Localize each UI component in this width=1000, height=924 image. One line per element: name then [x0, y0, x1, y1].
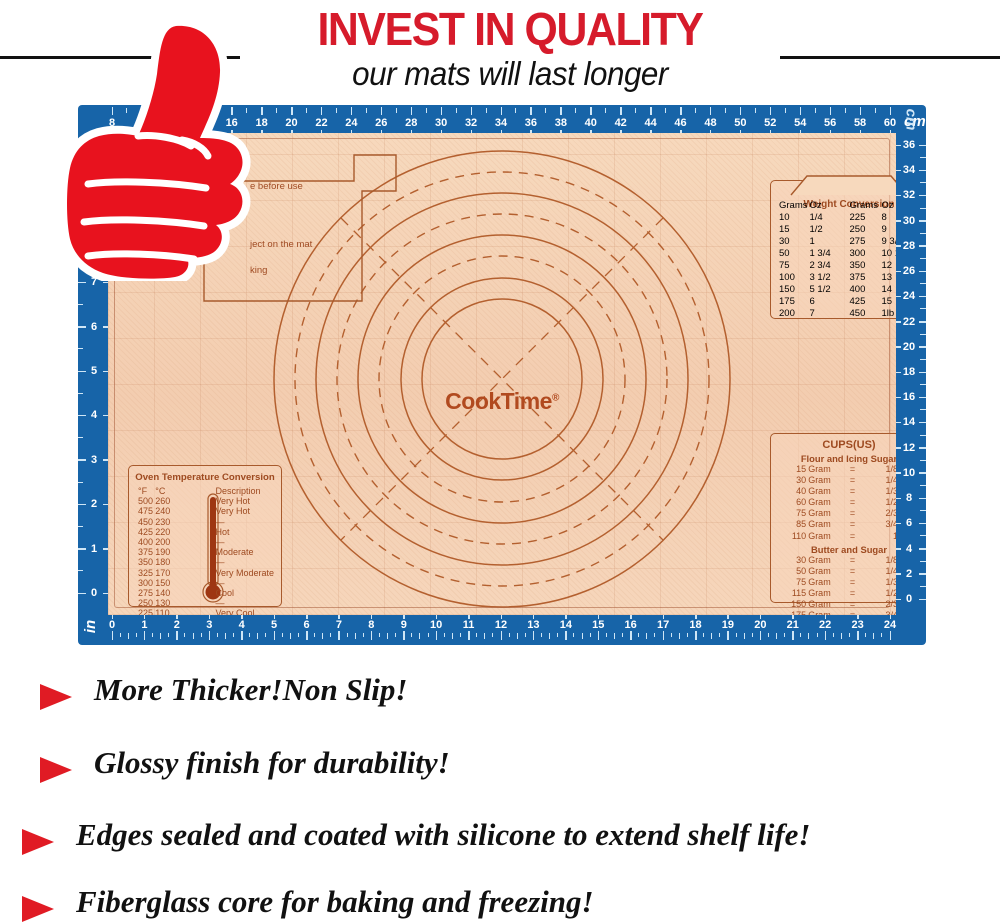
ruler-tick-minor — [671, 633, 672, 637]
table-row: 225110Very Cool — [137, 608, 275, 615]
cell: — — [171, 578, 275, 588]
cell: 13 — [881, 272, 897, 284]
cell: 110 — [777, 531, 807, 542]
cell: = — [844, 486, 860, 497]
cell: 375 — [137, 547, 154, 557]
ruler-tick-minor — [541, 633, 542, 637]
ruler-tick — [740, 107, 742, 115]
brand-name: CookTime — [445, 388, 552, 414]
ruler-number: 3 — [78, 454, 110, 466]
ruler-tick-minor — [557, 633, 558, 637]
cell: 50 — [778, 247, 809, 259]
cell: 115 — [777, 588, 807, 599]
cell: 230 — [154, 517, 171, 527]
cell: = — [844, 531, 860, 542]
ruler-number: 1 — [133, 619, 155, 631]
table-row: 1505 1/240014 — [778, 284, 896, 296]
ruler-tick — [471, 107, 473, 115]
cell: Gram — [807, 599, 844, 610]
ruler-number: 36 — [520, 117, 542, 129]
ruler-tick — [274, 631, 276, 640]
table-row: 75Gram=1/3 cup — [777, 577, 896, 588]
cell: 150 — [154, 578, 171, 588]
ruler-number: 0 — [101, 619, 123, 631]
cell: 350 — [849, 259, 881, 271]
ruler-tick-minor — [184, 633, 185, 637]
bullet-text: Edges sealed and coated with silicone to… — [76, 813, 810, 857]
cell: 1/3 cup — [861, 486, 896, 497]
cell: 150 — [777, 599, 807, 610]
table-row: 40Gram=1/3 cup — [777, 486, 896, 497]
ruler-tick-minor — [193, 633, 194, 639]
ruler-tick — [680, 107, 682, 115]
ruler-number: 7 — [328, 619, 350, 631]
cell: = — [844, 519, 860, 530]
cell: 200 — [778, 308, 809, 320]
ruler-tick — [630, 631, 632, 640]
weight-conversion-body: Grams Oz Grams Oz 101/42258 151/22509 30… — [778, 199, 896, 320]
cell: 325 — [137, 568, 154, 578]
weight-header-oz-1: Oz — [809, 199, 849, 211]
ruler-tick-minor — [573, 633, 574, 637]
ruler-tick-minor — [687, 633, 688, 637]
cell: 1/8 cup — [861, 464, 896, 475]
cell: Moderate — [171, 547, 275, 557]
ruler-tick-minor — [606, 633, 607, 637]
table-row: 300150— — [137, 578, 275, 588]
table-row: 50Gram=1/4 cup — [777, 566, 896, 577]
page-subtitle: our mats will last longer — [244, 54, 776, 94]
ruler-tick — [403, 631, 405, 640]
ruler-number: 1 — [78, 543, 110, 555]
ruler-tick-minor — [152, 633, 153, 637]
cell: = — [844, 497, 860, 508]
cell: 425 — [849, 296, 881, 308]
cell: 450 — [137, 517, 154, 527]
ruler-tick-minor — [282, 633, 283, 637]
ruler-tick-minor — [290, 633, 291, 639]
ruler-tick — [695, 631, 697, 640]
ruler-number: 54 — [789, 117, 811, 129]
cell: Gram — [807, 508, 844, 519]
ruler-tick — [306, 631, 308, 640]
cell: 2/3 cup — [861, 599, 896, 610]
cell: 190 — [154, 547, 171, 557]
cell: 3/4 cup — [861, 519, 896, 530]
ruler-tick — [441, 107, 443, 115]
cell: 3/4 cup — [861, 610, 896, 615]
ruler-tick — [792, 631, 794, 640]
ruler-tick-minor — [525, 633, 526, 637]
ruler-number: 18 — [251, 117, 273, 129]
ruler-number: 12 — [490, 619, 512, 631]
ruler-tick-minor — [298, 633, 299, 637]
ruler-tick-minor — [78, 482, 83, 483]
table-row: 325170Very Moderate — [137, 568, 275, 578]
ruler-tick-minor — [396, 108, 397, 113]
ruler-number: 0 — [894, 593, 924, 605]
ruler-tick — [760, 631, 762, 640]
ruler-tick-minor — [265, 633, 266, 637]
header-rule-right — [780, 56, 1000, 59]
ruler-number: 8 — [360, 619, 382, 631]
ruler-tick-minor — [168, 633, 169, 637]
cell: 75 — [777, 508, 807, 519]
cell: 9 — [881, 223, 897, 235]
ruler-tick-minor — [225, 633, 226, 639]
cell: 85 — [777, 519, 807, 530]
ruler-number: 50 — [729, 117, 751, 129]
ruler-number: 20 — [749, 619, 771, 631]
ruler-number: 20 — [894, 341, 924, 353]
ruler-number: 22 — [814, 619, 836, 631]
table-row: 250130— — [137, 598, 275, 608]
ruler-tick — [650, 107, 652, 115]
cell: 425 — [137, 527, 154, 537]
ruler-tick-minor — [635, 108, 636, 113]
cell: 12 — [881, 259, 897, 271]
ruler-number: 34 — [490, 117, 512, 129]
ruler-number: 44 — [640, 117, 662, 129]
cell: 75 — [777, 577, 807, 588]
ruler-number: 23 — [847, 619, 869, 631]
ruler-tick-minor — [78, 526, 83, 527]
cell: Gram — [807, 566, 844, 577]
cell: Gram — [807, 464, 844, 475]
ruler-tick-minor — [486, 108, 487, 113]
oven-header-desc: Description — [171, 486, 275, 496]
cell: 1/2 — [809, 223, 849, 235]
cell: 1 cup — [861, 531, 896, 542]
cell: Gram — [807, 610, 844, 615]
ruler-number: 9 — [393, 619, 415, 631]
ruler-tick-minor — [920, 535, 926, 536]
ruler-tick-minor — [665, 108, 666, 113]
ruler-number: 13 — [522, 619, 544, 631]
ruler-number: 24 — [879, 619, 901, 631]
ruler-tick-minor — [920, 258, 926, 259]
ruler-tick-minor — [920, 182, 926, 183]
ruler-unit-cm-right: cm — [902, 109, 919, 131]
cell: 175 — [778, 296, 809, 308]
ruler-tick — [860, 107, 862, 115]
ruler-right-cm: 024681012141618202224262830323436 — [894, 133, 926, 615]
ruler-tick-minor — [614, 633, 615, 639]
ruler-tick-minor — [744, 633, 745, 639]
ruler-tick — [468, 631, 470, 640]
ruler-tick-minor — [638, 633, 639, 637]
weight-table-banner — [789, 174, 896, 196]
ruler-tick — [830, 107, 832, 115]
ruler-number: 40 — [580, 117, 602, 129]
table-row: 110Gram=1 cup — [777, 531, 896, 542]
ruler-number: 16 — [620, 619, 642, 631]
cell: 10 — [778, 211, 809, 223]
cups-section-2-title: Butter and Sugar — [777, 544, 896, 555]
cell: Very Moderate — [171, 568, 275, 578]
ruler-bottom-in: 0123456789101112131415161718192021222324… — [78, 613, 926, 645]
cell: 225 — [849, 211, 881, 223]
cell: 2 3/4 — [809, 259, 849, 271]
ruler-tick-minor — [833, 633, 834, 637]
ruler-number: 52 — [759, 117, 781, 129]
ruler-tick-minor — [509, 633, 510, 637]
ruler-tick-minor — [582, 633, 583, 639]
cell: 400 — [137, 537, 154, 547]
cell: 130 — [154, 598, 171, 608]
cell: 475 — [137, 506, 154, 516]
ruler-tick-minor — [78, 393, 83, 394]
ruler-tick-minor — [920, 435, 926, 436]
ruler-tick — [351, 107, 353, 115]
ruler-number: 18 — [894, 366, 924, 378]
ruler-tick-minor — [379, 633, 380, 637]
table-row: 375190Moderate — [137, 547, 275, 557]
ruler-tick — [770, 107, 772, 115]
cell: 1 3/4 — [809, 247, 849, 259]
ruler-tick-minor — [776, 633, 777, 639]
cell: Gram — [807, 531, 844, 542]
ruler-tick-minor — [387, 633, 388, 639]
ruler-tick-minor — [476, 633, 477, 637]
bullet-text: Fiberglass core for baking and freezing! — [76, 880, 594, 924]
ruler-tick-minor — [411, 633, 412, 637]
instruction-line-2: ject on the mat — [250, 239, 312, 250]
ruler-tick-minor — [817, 633, 818, 637]
table-row: 75Gram=2/3 cup — [777, 508, 896, 519]
ruler-tick-minor — [201, 633, 202, 637]
ruler-tick — [338, 631, 340, 640]
ruler-tick-minor — [711, 633, 712, 639]
ruler-tick-minor — [456, 108, 457, 113]
ruler-number: 26 — [894, 265, 924, 277]
cell: 275 — [137, 588, 154, 598]
ruler-tick — [598, 631, 600, 640]
ruler-tick-minor — [306, 108, 307, 113]
ruler-tick-minor — [920, 384, 926, 385]
cell: = — [844, 508, 860, 519]
ruler-tick-minor — [841, 633, 842, 639]
ruler-tick — [501, 631, 503, 640]
oven-table-title: Oven Temperature Conversion — [135, 472, 275, 483]
ruler-tick-minor — [590, 633, 591, 637]
ruler-number: 19 — [717, 619, 739, 631]
cell: 2/3 cup — [861, 508, 896, 519]
table-row: 85Gram=3/4 cup — [777, 519, 896, 530]
ruler-tick-minor — [605, 108, 606, 113]
table-header-row: Grams Oz Grams Oz — [778, 199, 896, 211]
ruler-tick-minor — [654, 633, 655, 637]
cell: 100 — [778, 272, 809, 284]
ruler-number: 38 — [550, 117, 572, 129]
ruler-tick-minor — [920, 485, 926, 486]
cell: 1lb — [881, 308, 897, 320]
cell: Gram — [807, 577, 844, 588]
ruler-tick — [890, 107, 892, 115]
ruler-tick-minor — [575, 108, 576, 113]
cell: 450 — [849, 308, 881, 320]
table-header-row: °F °C Description — [137, 486, 275, 496]
ruler-tick — [501, 107, 503, 115]
cell: = — [844, 577, 860, 588]
ruler-tick — [112, 631, 114, 640]
ruler-number: 2 — [894, 568, 924, 580]
cell: 1/2 cup — [861, 497, 896, 508]
cell: Gram — [807, 486, 844, 497]
ruler-tick-minor — [419, 633, 420, 639]
cell: 110 — [154, 608, 171, 615]
table-row: 1003 1/237513 — [778, 272, 896, 284]
ruler-tick — [144, 631, 146, 640]
ruler-tick-minor — [120, 633, 121, 637]
table-row: 150Gram=2/3 cup — [777, 599, 896, 610]
ruler-tick-minor — [815, 108, 816, 113]
ruler-tick-minor — [314, 633, 315, 637]
ruler-tick — [857, 631, 859, 640]
ruler-tick-minor — [865, 633, 866, 637]
ruler-tick-minor — [695, 108, 696, 113]
ruler-tick-minor — [920, 409, 926, 410]
cell: 1/8 cup — [861, 555, 896, 566]
bullet-text: Glossy finish for durability! — [94, 741, 450, 785]
oven-temperature-body: °F °C Description 500260Very Hot 475240V… — [137, 486, 275, 615]
ruler-number: 6 — [894, 517, 924, 529]
ruler-tick-minor — [517, 633, 518, 639]
ruler-tick-minor — [549, 633, 550, 639]
cell: 30 — [777, 475, 807, 486]
ruler-number: 5 — [263, 619, 285, 631]
ruler-tick-minor — [800, 633, 801, 637]
ruler-tick-minor — [785, 108, 786, 113]
cell: Gram — [807, 475, 844, 486]
cell: 1/4 — [809, 211, 849, 223]
ruler-tick-minor — [808, 633, 809, 639]
ruler-tick-minor — [347, 633, 348, 637]
cell: 8 — [881, 211, 897, 223]
triangle-right-icon — [36, 755, 76, 785]
ruler-tick-minor — [160, 633, 161, 639]
cell: — — [171, 557, 275, 567]
ruler-number: 60 — [879, 117, 901, 129]
table-row: 175642515 — [778, 296, 896, 308]
cell: 1/4 cup — [861, 566, 896, 577]
table-row: 30Gram=1/8 cup — [777, 555, 896, 566]
cell: Hot — [171, 527, 275, 537]
ruler-tick-minor — [784, 633, 785, 637]
cell: 225 — [137, 608, 154, 615]
triangle-right-icon — [18, 827, 58, 857]
ruler-number: 36 — [894, 139, 924, 151]
cell: Very Hot — [171, 496, 275, 506]
table-row: 500260Very Hot — [137, 496, 275, 506]
ruler-number: 56 — [819, 117, 841, 129]
ruler-number: 30 — [894, 215, 924, 227]
cell: 50 — [777, 566, 807, 577]
ruler-number: 32 — [460, 117, 482, 129]
cell: Gram — [807, 555, 844, 566]
table-row: 400200— — [137, 537, 275, 547]
ruler-tick-minor — [78, 570, 83, 571]
cell: = — [844, 475, 860, 486]
cell: 260 — [154, 496, 171, 506]
ruler-number: 16 — [894, 391, 924, 403]
ruler-tick — [261, 107, 263, 115]
cell: 350 — [137, 557, 154, 567]
cell: 15 — [778, 223, 809, 235]
table-row: 20074501lb — [778, 308, 896, 320]
table-row: 30Gram=1/4 cup — [777, 475, 896, 486]
ruler-number: 14 — [555, 619, 577, 631]
ruler-tick-minor — [920, 359, 926, 360]
cell: 3 1/2 — [809, 272, 849, 284]
cell: 250 — [137, 598, 154, 608]
cell: 400 — [849, 284, 881, 296]
cell: 300 — [849, 247, 881, 259]
ruler-tick-minor — [336, 108, 337, 113]
ruler-tick-minor — [725, 108, 726, 113]
ruler-number: 21 — [782, 619, 804, 631]
cell: 375 — [849, 272, 881, 284]
ruler-tick-minor — [920, 460, 926, 461]
ruler-tick-minor — [920, 208, 926, 209]
ruler-tick-minor — [217, 633, 218, 637]
cell: 220 — [154, 527, 171, 537]
ruler-tick — [590, 107, 592, 115]
ruler-tick — [565, 631, 567, 640]
ruler-tick — [530, 107, 532, 115]
ruler-tick-minor — [460, 633, 461, 637]
registered-mark: ® — [552, 392, 559, 403]
ruler-tick — [533, 631, 535, 640]
ruler-tick-minor — [920, 233, 926, 234]
cell: = — [844, 566, 860, 577]
cell: = — [844, 464, 860, 475]
ruler-tick-minor — [646, 633, 647, 639]
cups-table-title: CUPS(US) — [777, 439, 896, 451]
ruler-number: 2 — [166, 619, 188, 631]
feature-bullet-list: More Thicker!Non Slip! Glossy finish for… — [0, 660, 1000, 924]
ruler-number: 48 — [699, 117, 721, 129]
table-row: 275140Cool — [137, 588, 275, 598]
ruler-tick-minor — [363, 633, 364, 637]
ruler-tick-minor — [920, 157, 926, 158]
ruler-tick-minor — [492, 633, 493, 637]
brand-logo: CookTime® — [108, 388, 896, 415]
instruction-line-1: e before use — [250, 181, 303, 192]
cell: 6 — [809, 296, 849, 308]
ruler-number: 6 — [296, 619, 318, 631]
ruler-tick-minor — [768, 633, 769, 637]
ruler-number: 3 — [198, 619, 220, 631]
ruler-number: 34 — [894, 164, 924, 176]
ruler-tick-minor — [78, 304, 83, 305]
ruler-tick-minor — [484, 633, 485, 639]
ruler-tick-minor — [276, 108, 277, 113]
cell: 180 — [154, 557, 171, 567]
cell: 10 1/2 — [881, 247, 897, 259]
weight-header-oz-2: Oz — [881, 199, 897, 211]
bullet-text: More Thicker!Non Slip! — [94, 668, 407, 712]
ruler-tick — [321, 107, 323, 115]
ruler-number: 14 — [894, 416, 924, 428]
cell: 250 — [849, 223, 881, 235]
ruler-tick-minor — [452, 633, 453, 639]
cell: 300 — [137, 578, 154, 588]
ruler-tick-minor — [78, 348, 83, 349]
cell: 140 — [154, 588, 171, 598]
cell: 500 — [137, 496, 154, 506]
ruler-tick-minor — [395, 633, 396, 637]
